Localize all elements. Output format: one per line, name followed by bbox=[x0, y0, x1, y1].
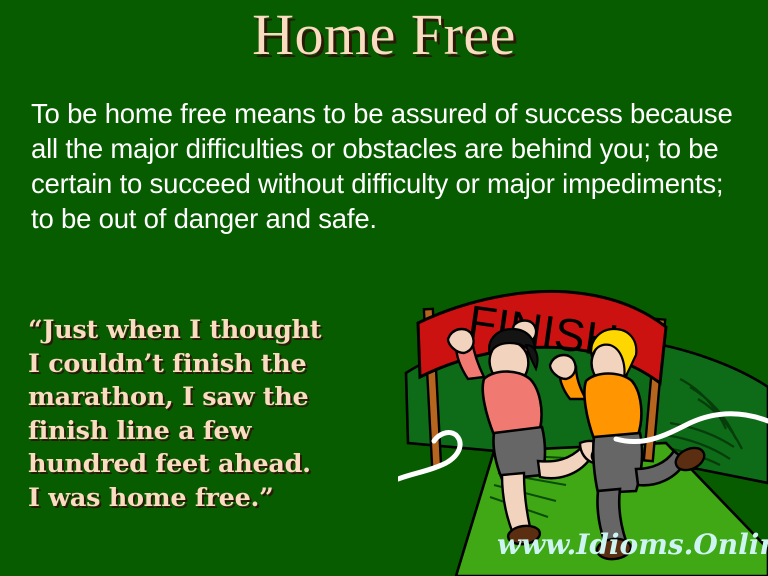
quote-line: I couldn’t finish the bbox=[28, 348, 398, 382]
idiom-definition-text: To be home free means to be assured of s… bbox=[31, 96, 743, 236]
page-title: Home Free bbox=[0, 2, 768, 68]
quote-line: I was home free.” bbox=[28, 482, 398, 516]
quote-line: hundred feet ahead. bbox=[28, 448, 398, 482]
site-watermark: www.Idioms.Online bbox=[497, 528, 768, 562]
idiom-poster: Home Free To be home free means to be as… bbox=[0, 0, 768, 576]
quote-line: marathon, I saw the bbox=[28, 381, 398, 415]
quote-line: “Just when I thought bbox=[28, 314, 398, 348]
quote-line: finish line a few bbox=[28, 415, 398, 449]
example-quote: “Just when I thought I couldn’t finish t… bbox=[28, 314, 398, 515]
